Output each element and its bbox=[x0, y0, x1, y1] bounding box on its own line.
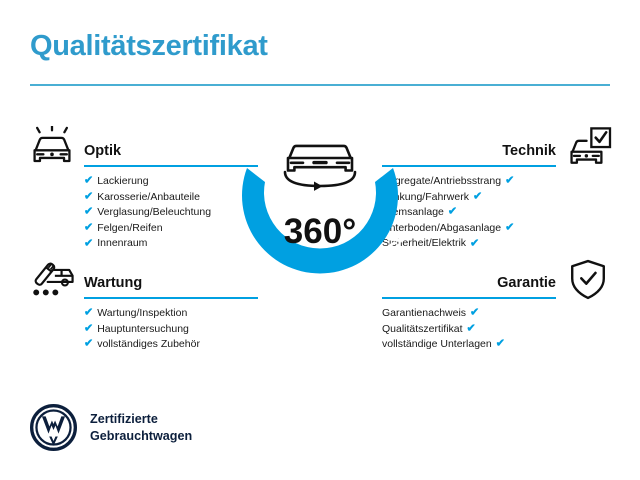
check-icon: ✔ bbox=[470, 308, 479, 319]
check-icon: ✔ bbox=[84, 176, 93, 187]
check-icon: ✔ bbox=[467, 323, 476, 334]
checklist-wartung: ✔Wartung/Inspektion ✔Hauptuntersuchung ✔… bbox=[84, 306, 258, 353]
shield-check-icon bbox=[562, 258, 614, 302]
check-icon: ✔ bbox=[84, 207, 93, 218]
list-item-label: Innenraum bbox=[97, 236, 147, 252]
vw-certified-logo: Zertifizierte Gebrauchtwagen bbox=[30, 404, 192, 451]
header-divider bbox=[30, 84, 610, 86]
list-item-label: vollständige Unterlagen bbox=[382, 337, 492, 353]
list-item-label: Wartung/Inspektion bbox=[97, 306, 187, 322]
list-item-label: Hauptuntersuchung bbox=[97, 322, 189, 338]
list-item: ✔Hauptuntersuchung bbox=[84, 322, 258, 338]
car-rotate-icon bbox=[285, 146, 355, 191]
check-icon: ✔ bbox=[505, 176, 514, 187]
badge-center-text: 360° bbox=[284, 212, 356, 251]
quality-certificate-page: Qualitätszertifikat Optik ✔Lackierun bbox=[0, 0, 640, 480]
check-icon: ✔ bbox=[84, 223, 93, 234]
check-icon: ✔ bbox=[473, 191, 482, 202]
car-front-shine-icon bbox=[26, 126, 78, 170]
list-item-label: Qualitätszertifikat bbox=[382, 322, 463, 338]
check-icon: ✔ bbox=[84, 191, 93, 202]
check-icon: ✔ bbox=[84, 339, 93, 350]
list-item-label: Karosserie/Anbauteile bbox=[97, 190, 200, 206]
vw-logo-icon bbox=[30, 404, 77, 451]
list-item: ✔vollständige Unterlagen bbox=[382, 337, 556, 353]
car-front-checkbox-icon bbox=[562, 126, 614, 170]
page-title: Qualitätszertifikat bbox=[30, 30, 268, 63]
list-item: ✔Qualitätszertifikat bbox=[382, 322, 556, 338]
check-icon: ✔ bbox=[505, 223, 514, 234]
check-icon: ✔ bbox=[84, 323, 93, 334]
checklist-garantie: ✔Garantienachweis ✔Qualitätszertifikat ✔… bbox=[382, 306, 556, 353]
footer-line-2: Gebrauchtwagen bbox=[90, 428, 192, 445]
list-item: ✔vollständiges Zubehör bbox=[84, 337, 258, 353]
check-icon: ✔ bbox=[496, 339, 505, 350]
check-icon: ✔ bbox=[84, 308, 93, 319]
list-item-label: Felgen/Reifen bbox=[97, 221, 162, 237]
list-item-label: Verglasung/Beleuchtung bbox=[97, 205, 211, 221]
wrench-car-icon bbox=[26, 258, 78, 302]
check-icon: ✔ bbox=[448, 207, 457, 218]
list-item-label: vollständiges Zubehör bbox=[97, 337, 200, 353]
footer-line-1: Zertifizierte bbox=[90, 411, 192, 428]
badge-360-gebrauchtwagen-check: Gebrauchtwagen-Check 360° bbox=[219, 120, 421, 310]
check-icon: ✔ bbox=[470, 238, 479, 249]
list-item-label: Lackierung bbox=[97, 174, 148, 190]
check-icon: ✔ bbox=[84, 238, 93, 249]
footer-text: Zertifizierte Gebrauchtwagen bbox=[90, 411, 192, 444]
